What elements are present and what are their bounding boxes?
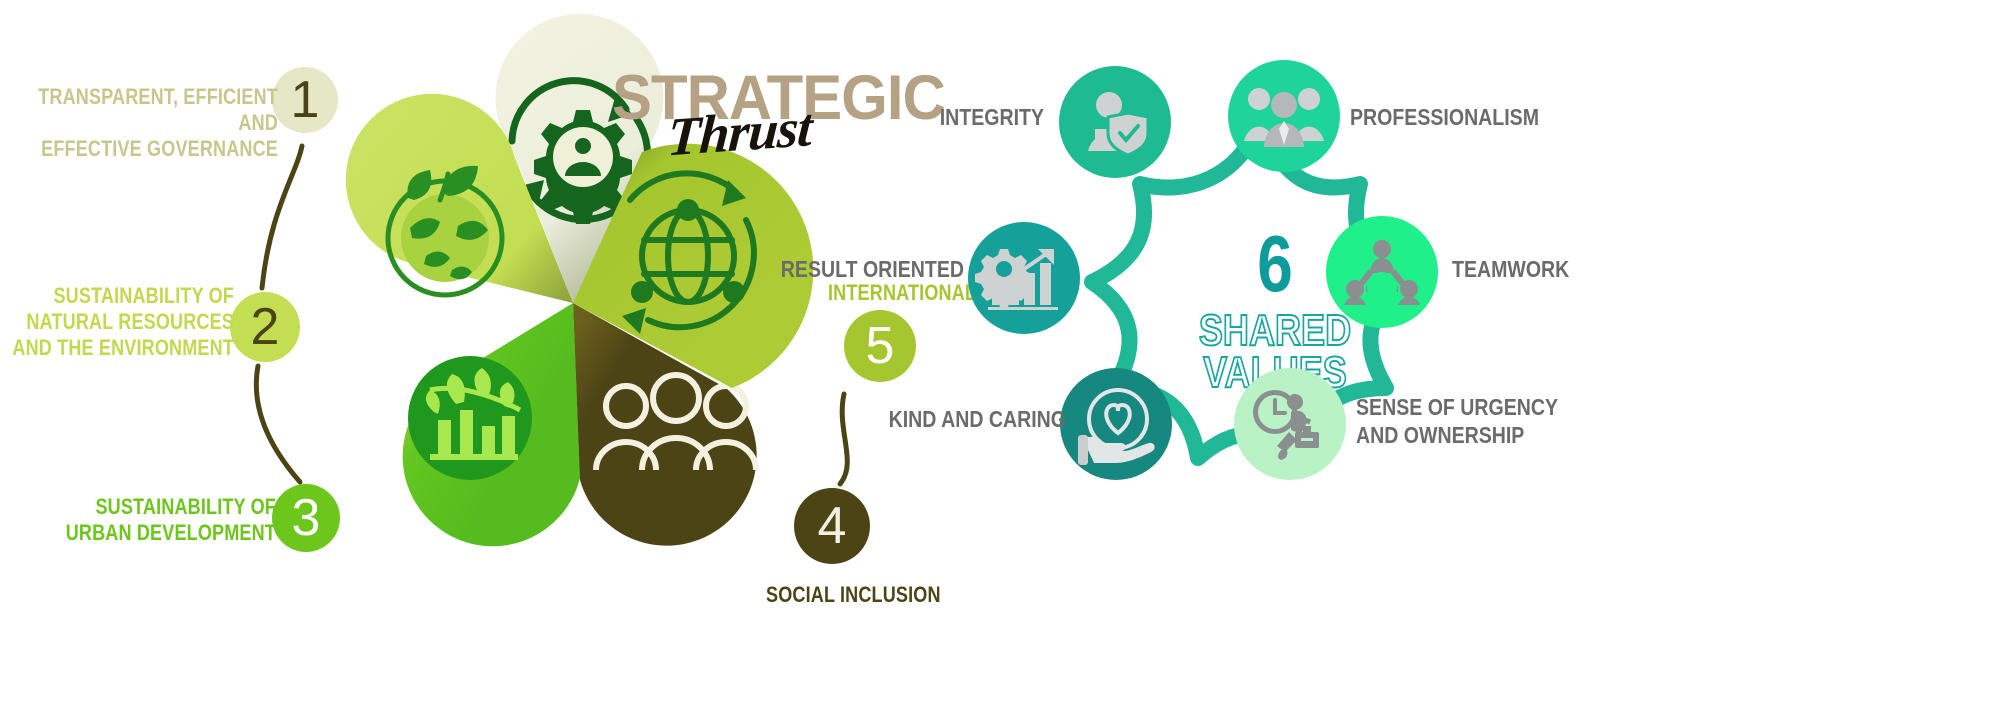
value-label-teamwork: TEAMWORK <box>1452 256 1707 284</box>
value-label-result-oriented: RESULT ORIENTED <box>709 256 964 284</box>
value-label-integrity: INTEGRITY <box>806 104 1044 132</box>
value-circle-kind-and-caring[interactable] <box>1060 368 1172 480</box>
value-circle-professionalism[interactable] <box>1228 60 1340 172</box>
thrust-badge-3-number: 3 <box>292 492 321 544</box>
thrust-badge-4-number: 4 <box>818 500 847 552</box>
thrust-label-1: TRANSPARENT, EFFICIENT ANDEFFECTIVE GOVE… <box>32 84 278 162</box>
value-circle-teamwork[interactable] <box>1326 216 1438 328</box>
value-circle-result-oriented[interactable] <box>968 222 1080 334</box>
thrust-badge-1-number: 1 <box>291 74 320 126</box>
thrust-badge-5[interactable]: 5 <box>844 310 916 382</box>
infographic-canvas: STRATEGIC Thrust 1 2 3 4 5 TRANSPARENT, … <box>0 0 2000 706</box>
hand-heart-icon <box>1076 387 1156 461</box>
petal-3-urban-development <box>403 303 580 546</box>
network-people-icon <box>1346 239 1418 305</box>
thrust-label-3: SUSTAINABILITY OFURBAN DEVELOPMENT <box>30 494 276 546</box>
thrust-badge-4[interactable]: 4 <box>794 488 870 564</box>
thrust-label-2: SUSTAINABILITY OFNATURAL RESOURCESAND TH… <box>0 283 234 361</box>
people-team-icon <box>1245 81 1323 151</box>
value-label-kind-and-caring: KIND AND CARING <box>811 406 1066 434</box>
thrust-badge-1[interactable]: 1 <box>272 67 338 133</box>
thrust-badge-5-number: 5 <box>866 320 895 372</box>
gear-bar-chart-growth-icon <box>988 245 1060 311</box>
thrust-badge-3[interactable]: 3 <box>272 484 340 552</box>
thrust-label-4: SOCIAL INCLUSION <box>766 582 1012 608</box>
shared-values-panel: 6 SHARED VALUES INTEGRITY <box>1000 0 2000 706</box>
person-shield-icon <box>1078 85 1152 159</box>
value-circle-integrity[interactable] <box>1059 66 1171 178</box>
thrust-badge-2[interactable]: 2 <box>230 292 300 362</box>
value-circle-sense-of-urgency[interactable] <box>1234 368 1346 480</box>
value-label-sense-of-urgency: SENSE OF URGENCYAND OWNERSHIP <box>1356 394 1628 449</box>
value-label-professionalism: PROFESSIONALISM <box>1350 104 1605 132</box>
title-thrust-script: Thrust <box>666 96 814 169</box>
thrust-badge-2-number: 2 <box>251 301 280 353</box>
clock-running-person-icon <box>1251 388 1329 460</box>
